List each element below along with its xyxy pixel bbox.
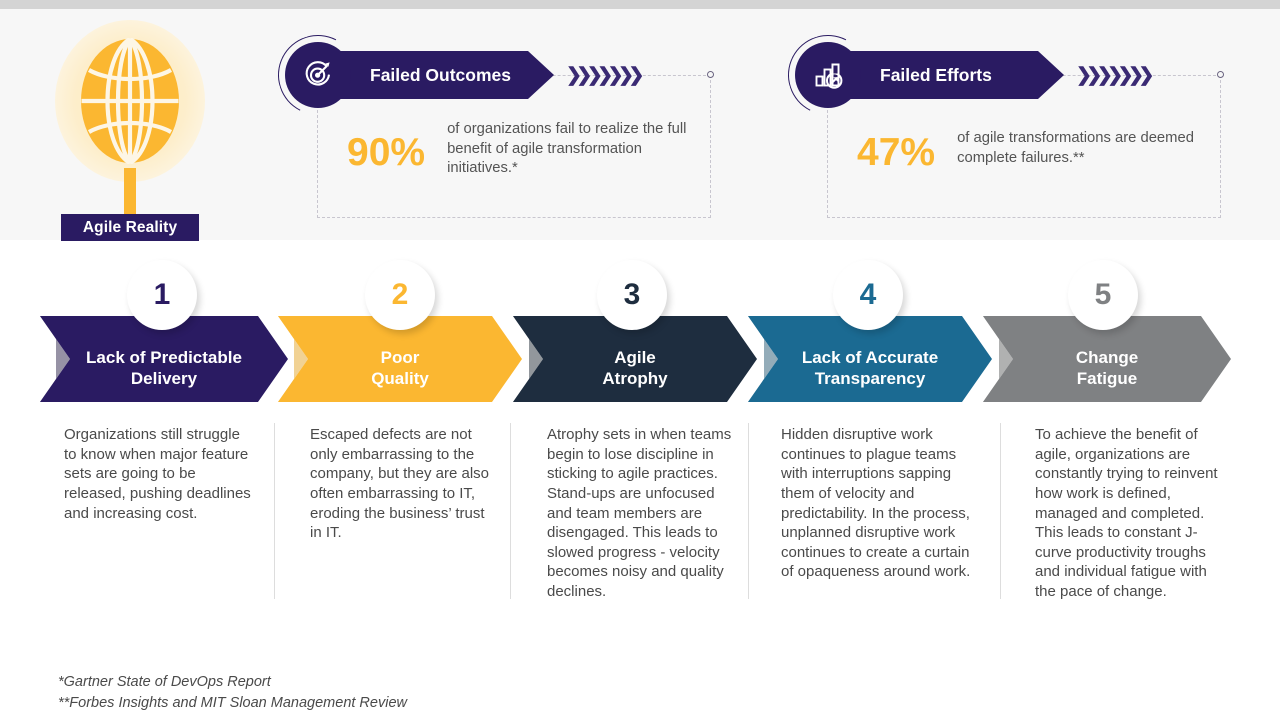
step-body-3: Atrophy sets in when teams begin to lose… (547, 425, 737, 602)
top-accent-band (0, 0, 1280, 9)
footnote-line-1: *Gartner State of DevOps Report (58, 672, 407, 693)
step-number-badge-1: 1 (127, 260, 197, 330)
step-title: Lack of Accurate Transparency (784, 347, 956, 390)
stat-percent: 47% (857, 133, 935, 172)
globe-icon (80, 38, 180, 164)
target-arrow-icon (285, 42, 351, 108)
step-number-badge-3: 3 (597, 260, 667, 330)
column-divider (748, 423, 749, 599)
column-divider (510, 423, 511, 599)
stat-row: 90% of organizations fail to realize the… (347, 120, 712, 179)
globe-stem (124, 168, 136, 216)
footnote-line-2: **Forbes Insights and MIT Sloan Manageme… (58, 693, 407, 714)
stat-description: of agile transformations are deemed comp… (957, 129, 1222, 168)
column-divider (274, 423, 275, 599)
step-number-badge-2: 2 (365, 260, 435, 330)
step-title: Lack of Predictable Delivery (68, 347, 260, 390)
stat-row: 47% of agile transformations are deemed … (857, 120, 1222, 172)
stat-percent: 90% (347, 133, 425, 172)
agile-reality-hero: Agile Reality (55, 20, 205, 225)
step-body-1: Organizations still struggle to know whe… (64, 425, 254, 523)
ribbon-bar: Failed Outcomes (318, 51, 554, 99)
stat-card-title: Failed Efforts (880, 65, 992, 86)
step-title: Change Fatigue (1058, 347, 1156, 390)
step-title: Poor Quality (353, 347, 447, 390)
chevron-trail-icon: ❯❯❯❯❯❯❯ (1076, 66, 1149, 85)
step-title: Agile Atrophy (584, 347, 685, 390)
stat-card-title: Failed Outcomes (370, 65, 511, 86)
corner-dot-marker (707, 71, 714, 78)
stat-description: of organizations fail to realize the ful… (447, 120, 712, 179)
chevron-trail-icon: ❯❯❯❯❯❯❯ (566, 66, 639, 85)
corner-dot-marker (1217, 71, 1224, 78)
footnotes: *Gartner State of DevOps Report **Forbes… (58, 672, 407, 713)
step-body-4: Hidden disruptive work continues to plag… (781, 425, 971, 582)
step-body-2: Escaped defects are not only embarrassin… (310, 425, 500, 543)
step-number-badge-4: 4 (833, 260, 903, 330)
step-number-badge-5: 5 (1068, 260, 1138, 330)
agile-reality-badge: Agile Reality (61, 214, 199, 241)
bar-chart-arrow-icon (795, 42, 861, 108)
ribbon-bar: Failed Efforts (828, 51, 1064, 99)
step-body-5: To achieve the benefit of agile, organiz… (1035, 425, 1225, 602)
column-divider (1000, 423, 1001, 599)
